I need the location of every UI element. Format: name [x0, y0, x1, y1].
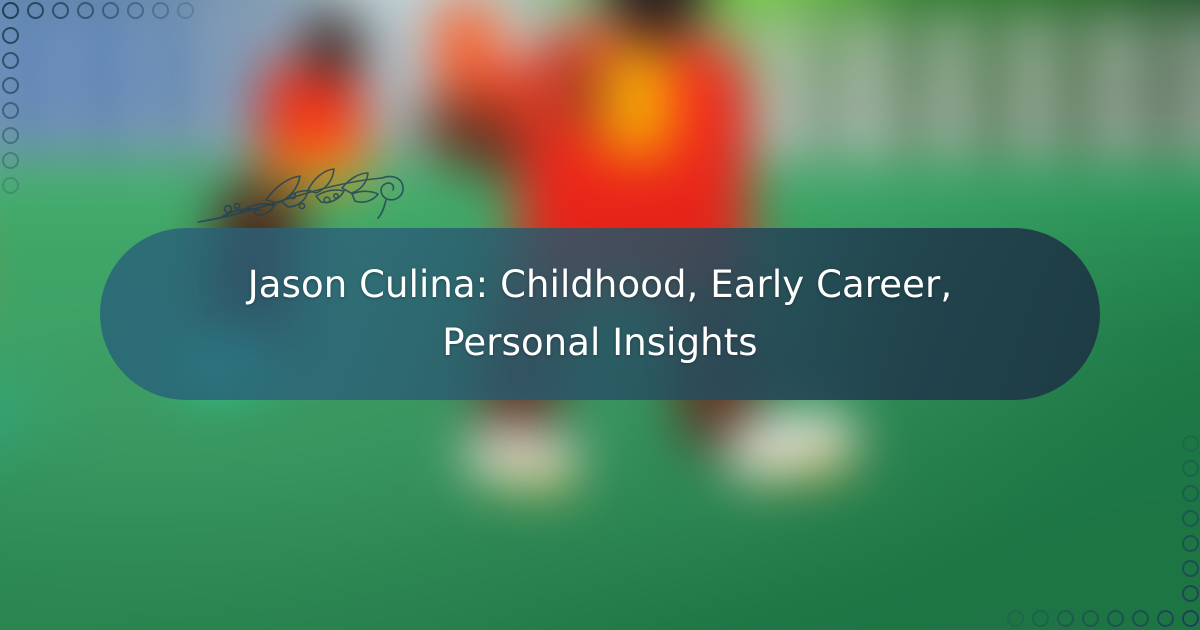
page-title: Jason Culina: Childhood, Early Career, P… — [170, 256, 1030, 372]
page-title-line-1: Jason Culina: Childhood, Early Career, — [248, 263, 952, 306]
background-teal-stripe — [0, 380, 100, 450]
page-title-line-2: Personal Insights — [442, 321, 757, 364]
player-one-number — [600, 50, 672, 156]
share-card: Jason Culina: Childhood, Early Career, P… — [0, 0, 1200, 630]
player-two-head — [302, 8, 364, 82]
title-panel: Jason Culina: Childhood, Early Career, P… — [100, 228, 1100, 400]
